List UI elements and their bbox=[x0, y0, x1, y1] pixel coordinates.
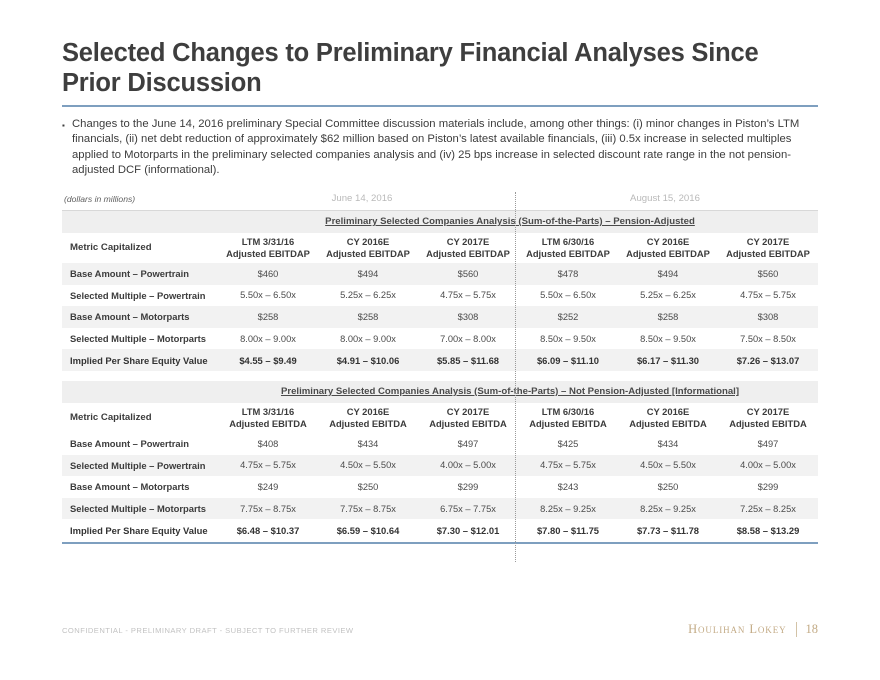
col2-top: CY 2016E bbox=[347, 236, 390, 247]
col1-bottom: Adjusted EBITDA bbox=[229, 418, 307, 429]
row-label: Base Amount – Powertrain bbox=[62, 263, 218, 285]
cell: $6.48 – $10.37 bbox=[218, 519, 318, 541]
cell: $299 bbox=[718, 476, 818, 498]
col1-top: LTM 3/31/16 bbox=[242, 406, 294, 417]
row-label: Selected Multiple – Powertrain bbox=[62, 285, 218, 307]
cell: 4.75x – 5.75x bbox=[718, 285, 818, 307]
row-label: Implied Per Share Equity Value bbox=[62, 349, 218, 371]
cell: $7.73 – $11.78 bbox=[618, 519, 718, 541]
bullet-paragraph-text: Changes to the June 14, 2016 preliminary… bbox=[72, 117, 822, 179]
section-title-pension-adjusted: Preliminary Selected Companies Analysis … bbox=[62, 216, 818, 227]
cell: 4.50x – 5.50x bbox=[618, 455, 718, 477]
brand-separator bbox=[796, 622, 797, 637]
table-row: Implied Per Share Equity Value $6.48 – $… bbox=[62, 519, 818, 541]
col6-top: CY 2017E bbox=[747, 406, 790, 417]
table2-label-header: Metric Capitalized bbox=[62, 403, 218, 433]
col5-top: CY 2016E bbox=[647, 406, 690, 417]
footer-brand-block: Houlihan Lokey 18 bbox=[688, 622, 818, 637]
cell: 8.50x – 9.50x bbox=[618, 328, 718, 350]
cell: $560 bbox=[418, 263, 518, 285]
cell: $494 bbox=[318, 263, 418, 285]
cell: $494 bbox=[618, 263, 718, 285]
cell: $250 bbox=[318, 476, 418, 498]
bullet-paragraph: ▪ Changes to the June 14, 2016 prelimina… bbox=[62, 117, 822, 179]
cell: $4.91 – $10.06 bbox=[318, 349, 418, 371]
cell: $6.09 – $11.10 bbox=[518, 349, 618, 371]
cell: $4.55 – $9.49 bbox=[218, 349, 318, 371]
col2-bottom: Adjusted EBITDAP bbox=[326, 248, 410, 259]
page-title: Selected Changes to Preliminary Financia… bbox=[62, 38, 818, 98]
section-title-not-pension-adjusted: Preliminary Selected Companies Analysis … bbox=[62, 386, 818, 397]
cell: 5.50x – 6.50x bbox=[218, 285, 318, 307]
row-label: Selected Multiple – Motorparts bbox=[62, 328, 218, 350]
table1-col-header-6: CY 2017E Adjusted EBITDAP bbox=[718, 233, 818, 263]
table-row: Selected Multiple – Motorparts 7.75x – 8… bbox=[62, 498, 818, 520]
cell: $6.17 – $11.30 bbox=[618, 349, 718, 371]
cell: 7.75x – 8.75x bbox=[218, 498, 318, 520]
table2-col-header-5: CY 2016E Adjusted EBITDA bbox=[618, 403, 718, 433]
cell: $497 bbox=[718, 433, 818, 455]
section-band-not-pension-adjusted: Preliminary Selected Companies Analysis … bbox=[62, 381, 818, 403]
table2-col-header-3: CY 2017E Adjusted EBITDA bbox=[418, 403, 518, 433]
cell: $308 bbox=[418, 306, 518, 328]
cell: 8.00x – 9.00x bbox=[318, 328, 418, 350]
cell: 4.00x – 5.00x bbox=[718, 455, 818, 477]
cell: 8.50x – 9.50x bbox=[518, 328, 618, 350]
date-header-june: June 14, 2016 bbox=[212, 193, 512, 204]
table1-col-header-4: LTM 6/30/16 Adjusted EBITDAP bbox=[518, 233, 618, 263]
col3-top: CY 2017E bbox=[447, 236, 490, 247]
table-row: Selected Multiple – Powertrain 5.50x – 6… bbox=[62, 285, 818, 307]
table-bottom-rule bbox=[62, 542, 818, 544]
cell: 4.75x – 5.75x bbox=[218, 455, 318, 477]
table1-label-header: Metric Capitalized bbox=[62, 233, 218, 263]
cell: 7.00x – 8.00x bbox=[418, 328, 518, 350]
cell: $425 bbox=[518, 433, 618, 455]
date-header-august: August 15, 2016 bbox=[515, 193, 815, 204]
table1-col-header-1: LTM 3/31/16 Adjusted EBITDAP bbox=[218, 233, 318, 263]
table1-col-header-5: CY 2016E Adjusted EBITDAP bbox=[618, 233, 718, 263]
col5-bottom: Adjusted EBITDAP bbox=[626, 248, 710, 259]
table-row: Base Amount – Powertrain $460 $494 $560 … bbox=[62, 263, 818, 285]
table2-col-header-6: CY 2017E Adjusted EBITDA bbox=[718, 403, 818, 433]
cell: $7.30 – $12.01 bbox=[418, 519, 518, 541]
cell: 5.50x – 6.50x bbox=[518, 285, 618, 307]
cell: $252 bbox=[518, 306, 618, 328]
cell: 4.00x – 5.00x bbox=[418, 455, 518, 477]
table-row: Base Amount – Motorparts $258 $258 $308 … bbox=[62, 306, 818, 328]
cell: 5.25x – 6.25x bbox=[318, 285, 418, 307]
cell: 4.75x – 5.75x bbox=[418, 285, 518, 307]
row-label: Base Amount – Motorparts bbox=[62, 476, 218, 498]
row-label: Implied Per Share Equity Value bbox=[62, 519, 218, 541]
cell: $7.80 – $11.75 bbox=[518, 519, 618, 541]
cell: $434 bbox=[618, 433, 718, 455]
cell: $250 bbox=[618, 476, 718, 498]
table1-header-row: Metric Capitalized LTM 3/31/16 Adjusted … bbox=[62, 233, 818, 263]
col4-bottom: Adjusted EBITDA bbox=[529, 418, 607, 429]
col4-top: LTM 6/30/16 bbox=[542, 406, 594, 417]
group-divider-dotted bbox=[515, 192, 516, 562]
table2-col-header-1: LTM 3/31/16 Adjusted EBITDA bbox=[218, 403, 318, 433]
table1-col-header-3: CY 2017E Adjusted EBITDAP bbox=[418, 233, 518, 263]
col3-top: CY 2017E bbox=[447, 406, 490, 417]
cell: $5.85 – $11.68 bbox=[418, 349, 518, 371]
cell: $299 bbox=[418, 476, 518, 498]
tables-container: (dollars in millions) June 14, 2016 Augu… bbox=[62, 192, 818, 544]
table-row: Selected Multiple – Powertrain 4.75x – 5… bbox=[62, 455, 818, 477]
table-row: Base Amount – Motorparts $249 $250 $299 … bbox=[62, 476, 818, 498]
col2-bottom: Adjusted EBITDA bbox=[329, 418, 407, 429]
cell: 6.75x – 7.75x bbox=[418, 498, 518, 520]
title-divider-rule bbox=[62, 105, 818, 107]
col6-bottom: Adjusted EBITDA bbox=[729, 418, 807, 429]
table-not-pension-adjusted: Metric Capitalized LTM 3/31/16 Adjusted … bbox=[62, 403, 818, 541]
cell: 8.25x – 9.25x bbox=[518, 498, 618, 520]
col2-top: CY 2016E bbox=[347, 406, 390, 417]
table2-header-row: Metric Capitalized LTM 3/31/16 Adjusted … bbox=[62, 403, 818, 433]
square-bullet-icon: ▪ bbox=[62, 117, 72, 134]
cell: 8.25x – 9.25x bbox=[618, 498, 718, 520]
row-label: Selected Multiple – Motorparts bbox=[62, 498, 218, 520]
col6-bottom: Adjusted EBITDAP bbox=[726, 248, 810, 259]
cell: $408 bbox=[218, 433, 318, 455]
table2-col-header-4: LTM 6/30/16 Adjusted EBITDA bbox=[518, 403, 618, 433]
page-number: 18 bbox=[806, 622, 819, 637]
cell: 5.25x – 6.25x bbox=[618, 285, 718, 307]
cell: $460 bbox=[218, 263, 318, 285]
section-band-pension-adjusted: Preliminary Selected Companies Analysis … bbox=[62, 211, 818, 233]
cell: $7.26 – $13.07 bbox=[718, 349, 818, 371]
col3-bottom: Adjusted EBITDAP bbox=[426, 248, 510, 259]
table-pension-adjusted: Metric Capitalized LTM 3/31/16 Adjusted … bbox=[62, 233, 818, 371]
col5-top: CY 2016E bbox=[647, 236, 690, 247]
table-row: Base Amount – Powertrain $408 $434 $497 … bbox=[62, 433, 818, 455]
cell: $258 bbox=[218, 306, 318, 328]
cell: $243 bbox=[518, 476, 618, 498]
houlihan-lokey-logo: Houlihan Lokey bbox=[688, 622, 786, 637]
cell: 7.75x – 8.75x bbox=[318, 498, 418, 520]
cell: $308 bbox=[718, 306, 818, 328]
cell: $478 bbox=[518, 263, 618, 285]
col1-top: LTM 3/31/16 bbox=[242, 236, 294, 247]
row-label: Base Amount – Motorparts bbox=[62, 306, 218, 328]
units-note: (dollars in millions) bbox=[64, 194, 135, 204]
col5-bottom: Adjusted EBITDA bbox=[629, 418, 707, 429]
cell: 7.50x – 8.50x bbox=[718, 328, 818, 350]
cell: 8.00x – 9.00x bbox=[218, 328, 318, 350]
col1-bottom: Adjusted EBITDAP bbox=[226, 248, 310, 259]
row-label: Selected Multiple – Powertrain bbox=[62, 455, 218, 477]
cell: $258 bbox=[618, 306, 718, 328]
table-row: Implied Per Share Equity Value $4.55 – $… bbox=[62, 349, 818, 371]
cell: $6.59 – $10.64 bbox=[318, 519, 418, 541]
cell: $497 bbox=[418, 433, 518, 455]
table1-col-header-2: CY 2016E Adjusted EBITDAP bbox=[318, 233, 418, 263]
col3-bottom: Adjusted EBITDA bbox=[429, 418, 507, 429]
cell: 4.50x – 5.50x bbox=[318, 455, 418, 477]
slide-root: Selected Changes to Preliminary Financia… bbox=[0, 0, 880, 680]
title-block: Selected Changes to Preliminary Financia… bbox=[62, 38, 818, 98]
col6-top: CY 2017E bbox=[747, 236, 790, 247]
cell: $8.58 – $13.29 bbox=[718, 519, 818, 541]
row-label: Base Amount – Powertrain bbox=[62, 433, 218, 455]
cell: 4.75x – 5.75x bbox=[518, 455, 618, 477]
col4-top: LTM 6/30/16 bbox=[542, 236, 594, 247]
cell: $560 bbox=[718, 263, 818, 285]
cell: $434 bbox=[318, 433, 418, 455]
col4-bottom: Adjusted EBITDAP bbox=[526, 248, 610, 259]
footer-confidential-notice: CONFIDENTIAL - PRELIMINARY DRAFT - SUBJE… bbox=[62, 626, 354, 635]
cell: $258 bbox=[318, 306, 418, 328]
cell: $249 bbox=[218, 476, 318, 498]
table-meta-row: (dollars in millions) June 14, 2016 Augu… bbox=[62, 192, 818, 210]
table2-col-header-2: CY 2016E Adjusted EBITDA bbox=[318, 403, 418, 433]
cell: 7.25x – 8.25x bbox=[718, 498, 818, 520]
table-row: Selected Multiple – Motorparts 8.00x – 9… bbox=[62, 328, 818, 350]
